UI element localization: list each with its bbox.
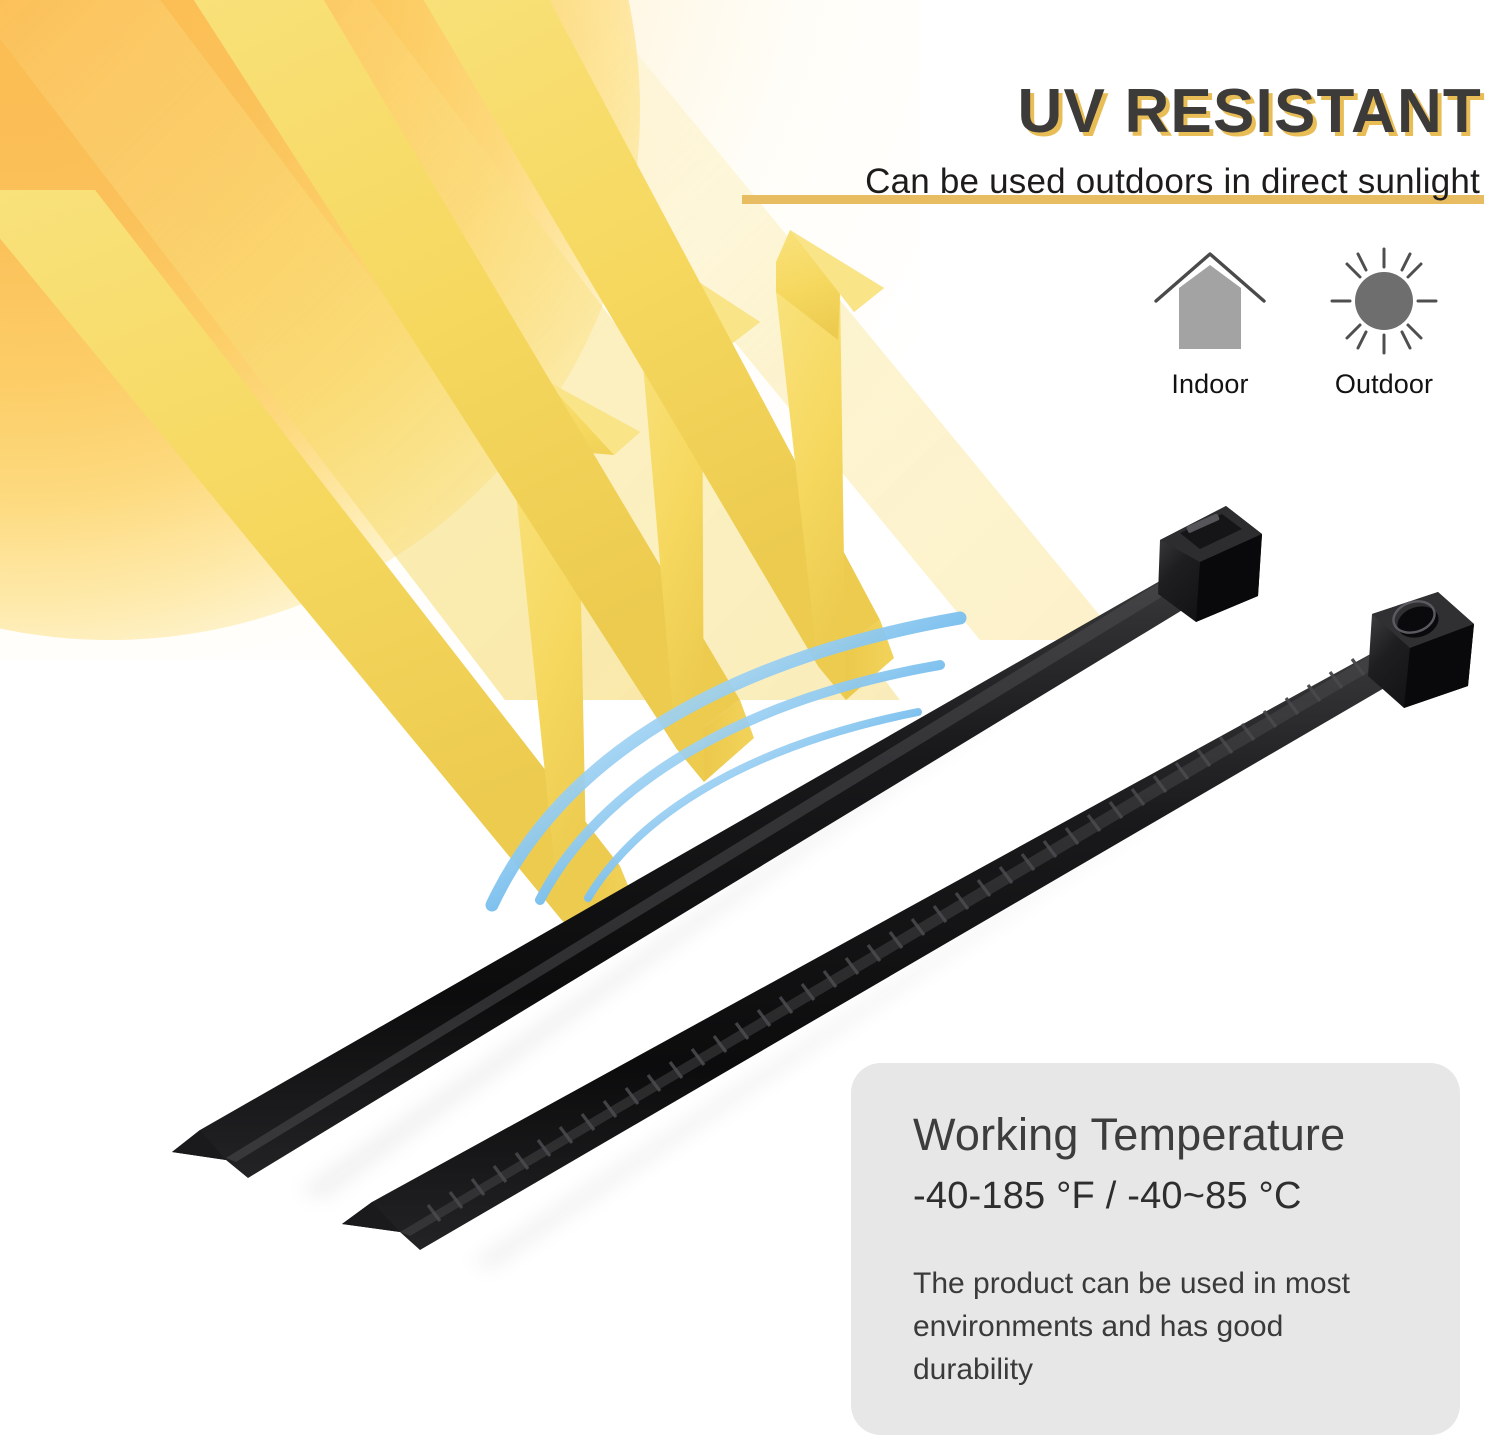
- usage-badges: Indoor: [1135, 243, 1480, 433]
- temperature-card-title: Working Temperature: [913, 1111, 1406, 1159]
- page-title: UV RESISTANT: [1017, 76, 1482, 147]
- temperature-range-value: -40-185 °F / -40~85 °C: [913, 1175, 1406, 1218]
- product-feature-image: UV RESISTANT Can be used outdoors in dir…: [0, 0, 1500, 1450]
- page-subtitle: Can be used outdoors in direct sunlight: [861, 162, 1484, 204]
- badge-outdoor-label: Outdoor: [1309, 369, 1459, 400]
- cable-tie-1-head: [1158, 506, 1262, 622]
- temperature-card-body: The product can be used in most environm…: [913, 1262, 1406, 1392]
- sun-icon: [1309, 243, 1459, 363]
- subtitle-wrap: Can be used outdoors in direct sunlight: [861, 162, 1484, 204]
- house-icon: [1135, 243, 1285, 363]
- working-temperature-card: Working Temperature -40-185 °F / -40~85 …: [851, 1063, 1460, 1435]
- badge-indoor: Indoor: [1135, 243, 1285, 400]
- badge-indoor-label: Indoor: [1135, 369, 1285, 400]
- badge-outdoor: Outdoor: [1309, 243, 1459, 400]
- cable-tie-2-head: [1368, 592, 1474, 708]
